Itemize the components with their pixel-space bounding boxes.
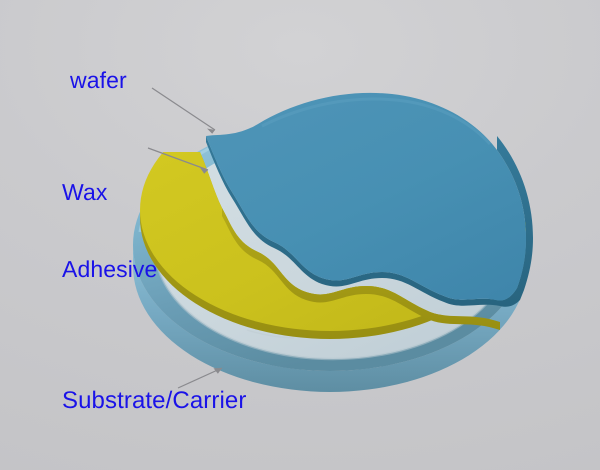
label-wax-adhesive-line2: Adhesive (62, 257, 157, 283)
label-wafer: wafer (70, 68, 127, 94)
label-substrate-carrier: Substrate/Carrier (62, 388, 246, 415)
leader-line-substrate (178, 368, 222, 388)
label-wax-adhesive-line1: Wax (62, 180, 157, 206)
leader-line-wafer (152, 88, 215, 130)
diagram-canvas: wafer Wax Adhesive Substrate/Carrier (0, 0, 600, 470)
label-wax-adhesive: Wax Adhesive (62, 128, 157, 334)
